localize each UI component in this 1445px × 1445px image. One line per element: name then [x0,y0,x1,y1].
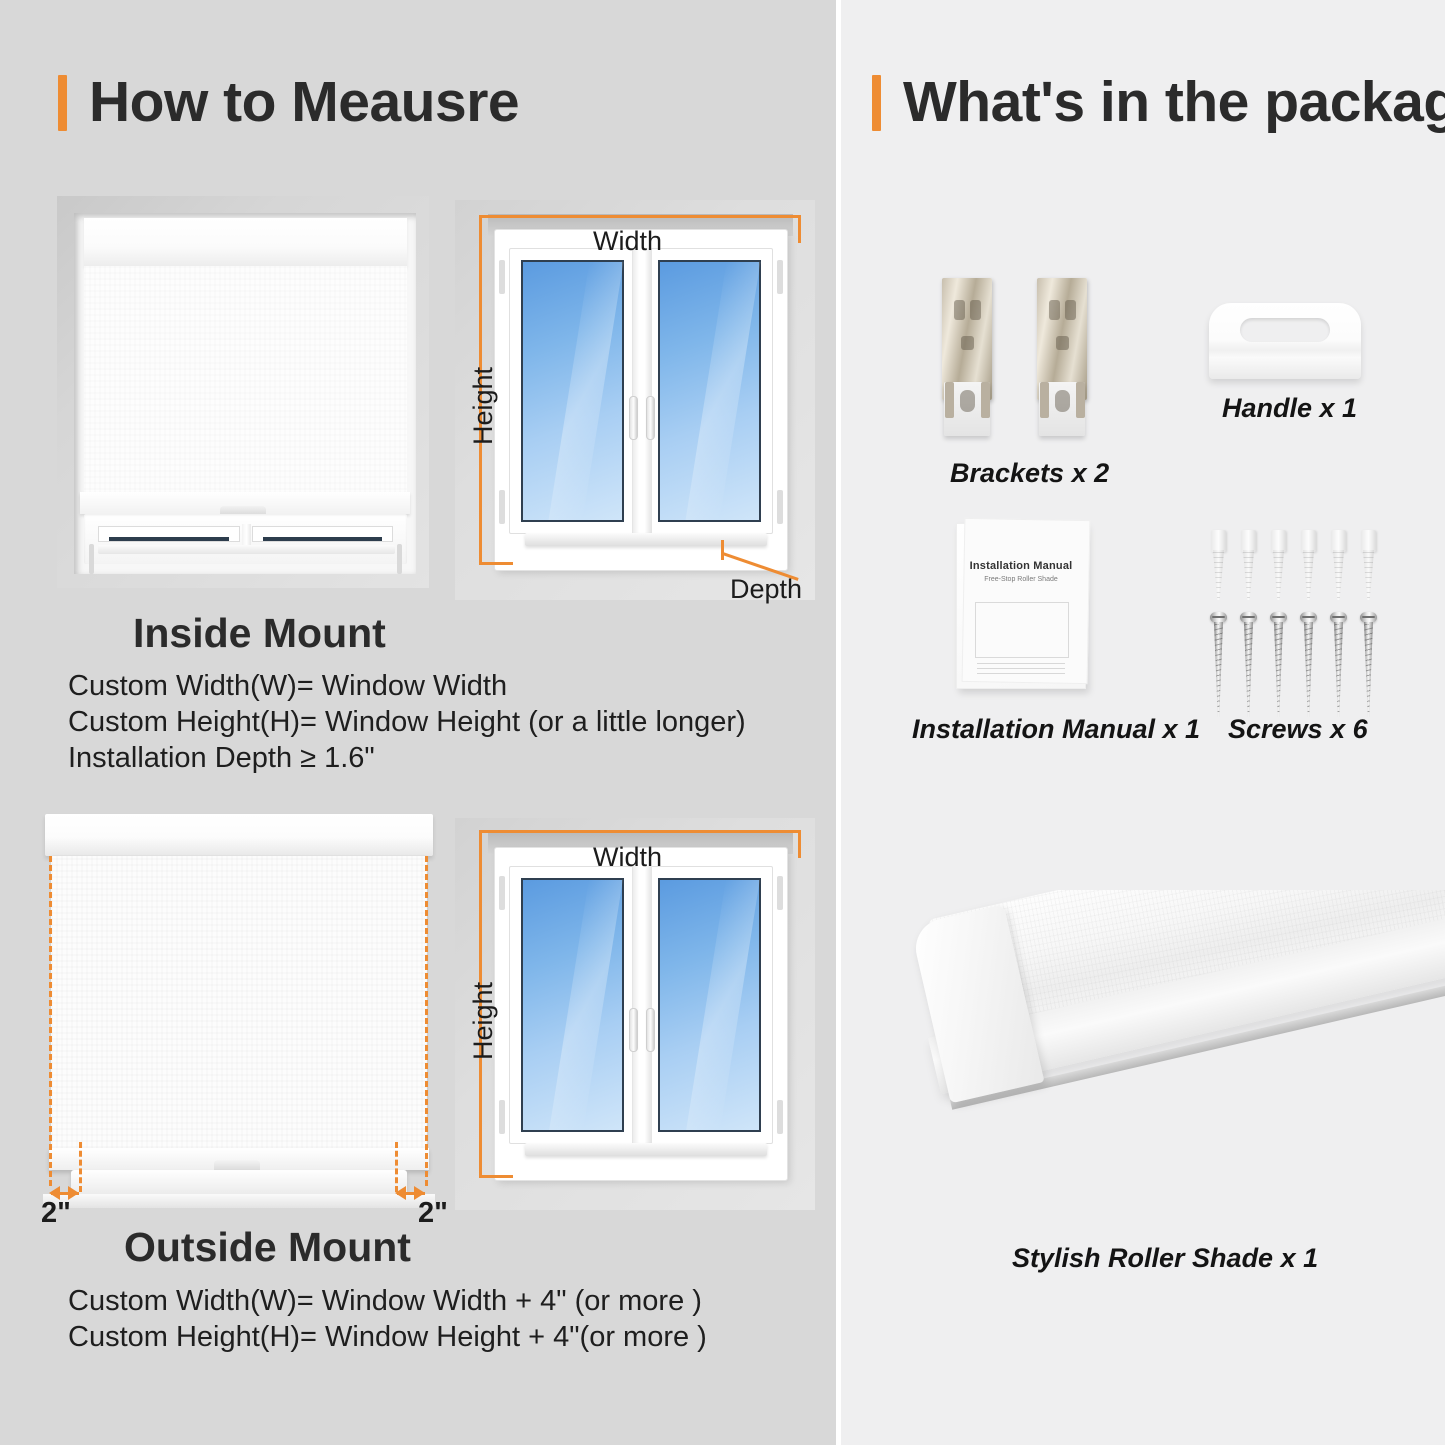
window-frame [495,230,787,570]
window-hinge-top-left [499,260,505,294]
window-hinge-bottom-left [499,490,505,524]
shade-valance [84,218,407,267]
how-to-measure-heading: How to Meausre [58,74,519,131]
window-handle-left[interactable] [629,396,638,440]
screw-threads [1304,624,1313,716]
bracket-item-1 [938,278,996,438]
infographic-page: How to Meausre What's in the package [0,0,1445,1445]
height-label: Height [468,367,499,445]
window-sash-right [646,248,773,534]
window-glass-left [109,537,229,541]
screw-slot [1272,616,1285,618]
roller-shade-label: Stylish Roller Shade x 1 [1012,1243,1318,1274]
screw-slot [1212,616,1225,618]
anchor-head [1331,530,1346,552]
handle-item [1209,303,1361,379]
height-label: Height [468,982,499,1060]
window-ledge [43,1194,435,1208]
glass-glare [549,880,622,1130]
window-hinge-top-left [499,876,505,910]
window-hinge-left [89,544,94,574]
width-label: Width [593,842,662,873]
anchor-ribs [1333,552,1344,598]
window-mullion [632,866,652,1144]
width-measure-cap-right [798,830,801,858]
outside-mount-line-2: Custom Height(H)= Window Height + 4"(or … [68,1321,707,1354]
overhang-label-left: 2" [41,1197,71,1230]
anchor-ribs [1213,552,1224,598]
width-label: Width [593,226,662,257]
bracket-slot [1049,300,1060,320]
outside-mount-line-1: Custom Width(W)= Window Width + 4" (or m… [68,1285,702,1318]
inside-mount-line-2: Custom Height(H)= Window Height (or a li… [68,706,746,739]
window-sill [525,1143,767,1156]
inside-mount-line-3: Installation Depth ≥ 1.6" [68,742,375,775]
height-measure-cap-bottom [479,562,513,565]
width-measure-line [479,830,801,833]
bracket-tab-left [1040,382,1049,418]
bracket-tab-right [1076,382,1085,418]
screw-threads [1214,624,1223,716]
bracket-slot [961,336,974,350]
window-glass-left [521,260,624,522]
wall-anchor-1 [1209,530,1228,600]
window-edge-guide-left [79,1142,82,1192]
screw-slot [1332,616,1345,618]
window-glass-right [658,260,761,522]
window-glass-left [521,878,624,1132]
anchor-head [1241,530,1256,552]
whats-in-package-heading: What's in the package [872,74,1445,131]
manual-cover-subtitle: Free-Stop Roller Shade [957,576,1085,583]
window-edge-guide-right [395,1142,398,1192]
handle-label: Handle x 1 [1222,393,1357,424]
handle-grip-hole [1240,318,1330,342]
wall-anchor-6 [1359,530,1378,600]
wall-anchor-3 [1269,530,1288,600]
screw-slot [1362,616,1375,618]
anchor-ribs [1243,552,1254,598]
manual-cover-title: Installation Manual [957,560,1085,572]
glass-glare [686,880,759,1130]
screw-slot [1242,616,1255,618]
anchor-head [1301,530,1316,552]
screw-4 [1300,612,1317,717]
window-hinge-top-right [777,260,783,294]
shade-fabric [51,856,427,1154]
arrow-head-right-inner [395,1186,406,1200]
bracket-slot [1056,336,1069,350]
anchor-head [1211,530,1226,552]
window-sash-left [509,248,636,534]
bracket-screw-hole [960,390,975,412]
screw-6 [1360,612,1377,717]
anchor-ribs [1273,552,1284,598]
inside-mount-shade-illustration [57,196,429,588]
glass-glare [548,262,623,520]
window-sash-left [509,866,636,1144]
bracket-tab-right [981,382,990,418]
window-sill [71,1170,407,1196]
wall-anchor-2 [1239,530,1258,600]
screw-threads [1364,624,1373,716]
width-measure-cap-right [798,215,801,243]
window-below-shade [84,514,407,564]
brackets-label: Brackets x 2 [950,458,1109,489]
bracket-screw-hole [1055,390,1070,412]
bracket-slot [970,300,981,320]
screw-5 [1330,612,1347,717]
how-to-measure-title: How to Meausre [89,74,519,131]
window-handle-right[interactable] [646,1008,655,1052]
inside-mount-measure-diagram: Width Height Depth [455,200,815,600]
shade-valance [45,814,433,856]
installation-manual-label: Installation Manual x 1 [912,714,1200,745]
bracket-slot [954,300,965,320]
outside-mount-shade-illustration [37,812,437,1210]
shade-fabric [84,266,407,496]
window-handle-left[interactable] [629,1008,638,1052]
anchor-head [1271,530,1286,552]
anchor-ribs [1303,552,1314,598]
bracket-item-2 [1033,278,1091,438]
anchor-head [1361,530,1376,552]
window-mullion [632,248,652,534]
wall-anchor-4 [1299,530,1318,600]
inside-mount-line-1: Custom Width(W)= Window Width [68,670,507,703]
screw-3 [1270,612,1287,717]
window-sash-left [98,526,240,542]
window-sill [98,545,395,554]
screw-2 [1240,612,1257,717]
height-measure-cap-bottom [479,1175,513,1178]
window-hinge-top-right [777,876,783,910]
manual-cover-figure [975,602,1069,658]
window-handle-right[interactable] [646,396,655,440]
screw-threads [1334,624,1343,716]
bracket-tab-left [945,382,954,418]
window-hinge-bottom-right [777,490,783,524]
window-sash-right [252,526,394,542]
outside-mount-measure-diagram: Width Height [455,818,815,1210]
accent-bar-icon [58,75,67,131]
window-sash-right [646,866,773,1144]
accent-bar-icon [872,75,881,131]
screw-threads [1274,624,1283,716]
roller-shade-product-image [900,890,1445,1210]
screw-slot [1302,616,1315,618]
inside-mount-title: Inside Mount [133,610,386,657]
screws-label: Screws x 6 [1228,714,1368,745]
whats-in-package-title: What's in the package [903,74,1445,131]
screw-threads [1244,624,1253,716]
depth-label: Depth [730,574,802,605]
depth-measure-cap [721,540,724,560]
width-measure-line [479,215,801,218]
glass-glare [685,262,760,520]
overhang-guide-right [425,856,428,1186]
window-hinge-right [397,544,402,574]
window-hinge-bottom-left [499,1100,505,1134]
window-hinge-bottom-right [777,1100,783,1134]
wall-anchor-5 [1329,530,1348,600]
window-sill [525,533,767,546]
manual-cover-footer-text [977,660,1065,674]
overhang-label-right: 2" [418,1197,448,1230]
installation-manual-item: Installation Manual Free-Stop Roller Sha… [956,523,1086,689]
window-frame [495,848,787,1180]
window-glass-right [658,878,761,1132]
outside-mount-title: Outside Mount [124,1224,411,1271]
window-glass-right [263,537,383,541]
anchor-ribs [1363,552,1374,598]
bracket-slot [1065,300,1076,320]
screw-1 [1210,612,1227,717]
overhang-guide-left [49,856,52,1186]
